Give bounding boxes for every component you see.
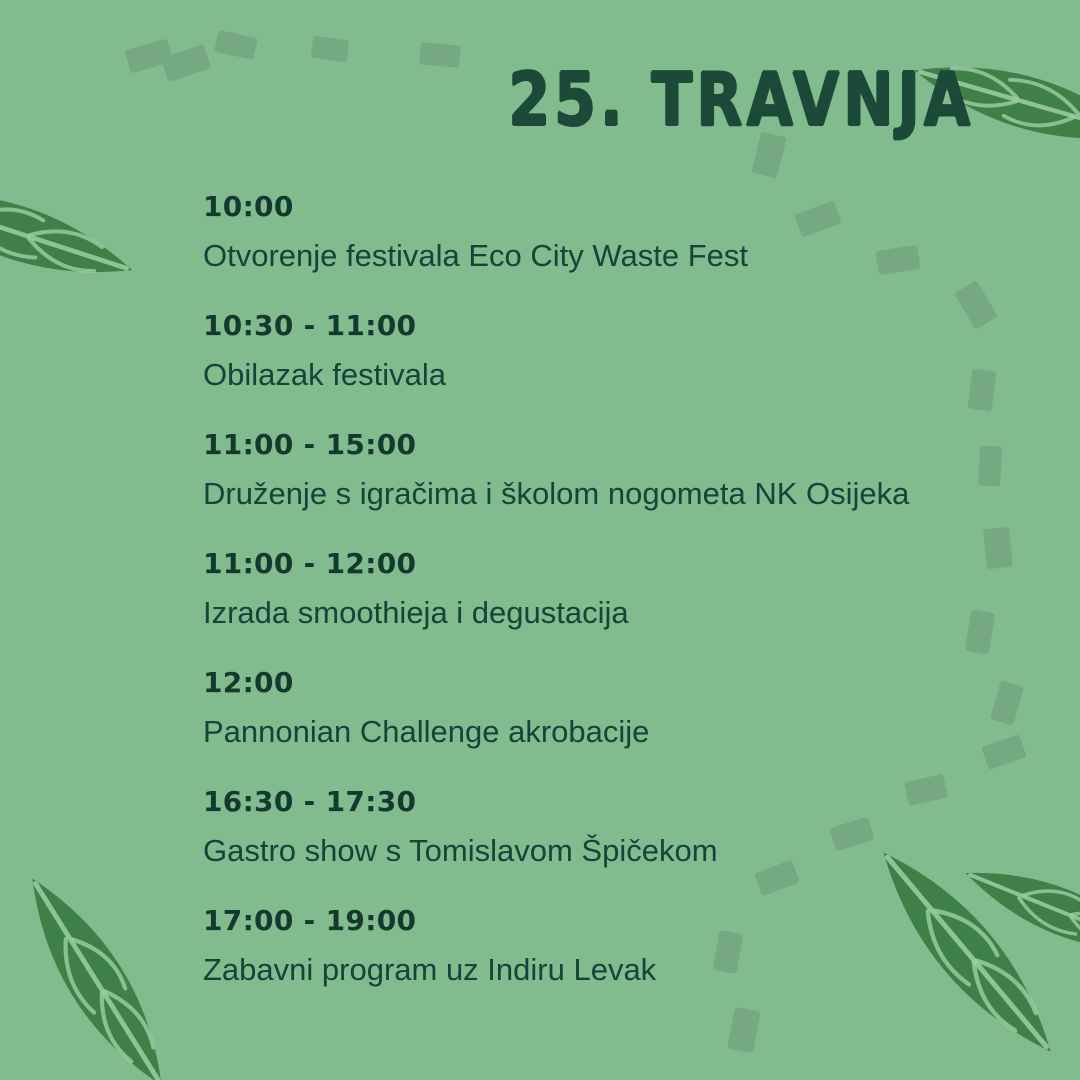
entry-description: Druženje s igračima i školom nogometa NK… (203, 478, 1033, 509)
entry-description: Otvorenje festivala Eco City Waste Fest (203, 240, 1033, 271)
schedule-entry: 12:00Pannonian Challenge akrobacije (203, 669, 1033, 788)
confetti-dash (214, 30, 258, 60)
entry-time: 17:00 - 19:00 (203, 907, 1033, 935)
schedule-entry: 16:30 - 17:30Gastro show s Tomislavom Šp… (203, 788, 1033, 907)
schedule-entry: 10:00Otvorenje festivala Eco City Waste … (203, 193, 1033, 312)
poster-canvas: 25. TRAVNJA 10:00Otvorenje festivala Eco… (0, 0, 1080, 1080)
title-row: 25. TRAVNJA (494, 58, 974, 142)
entry-time: 10:30 - 11:00 (203, 312, 1033, 340)
schedule-entry: 11:00 - 15:00Druženje s igračima i školo… (203, 431, 1033, 550)
entry-time: 11:00 - 15:00 (203, 431, 1033, 459)
schedule-entry: 17:00 - 19:00Zabavni program uz Indiru L… (203, 907, 1033, 1026)
page-title: 25. TRAVNJA (508, 63, 974, 136)
schedule-entry: 10:30 - 11:00Obilazak festivala (203, 312, 1033, 431)
confetti-dash (419, 42, 461, 67)
entry-description: Izrada smoothieja i degustacija (203, 597, 1033, 628)
entry-description: Pannonian Challenge akrobacije (203, 716, 1033, 747)
entry-time: 12:00 (203, 669, 1033, 697)
entry-time: 10:00 (203, 193, 1033, 221)
confetti-dash (311, 36, 350, 63)
entry-time: 11:00 - 12:00 (203, 550, 1033, 578)
confetti-dash (125, 38, 174, 73)
schedule-entry: 11:00 - 12:00Izrada smoothieja i degusta… (203, 550, 1033, 669)
entry-description: Gastro show s Tomislavom Špičekom (203, 835, 1033, 866)
leaf-bottom-left-icon (9, 864, 186, 1080)
leaf-left-edge-icon (0, 170, 140, 296)
entry-time: 16:30 - 17:30 (203, 788, 1033, 816)
confetti-dash (161, 44, 212, 82)
entry-description: Obilazak festivala (203, 359, 1033, 390)
schedule-list: 10:00Otvorenje festivala Eco City Waste … (203, 193, 1033, 1026)
entry-description: Zabavni program uz Indiru Levak (203, 954, 1033, 985)
